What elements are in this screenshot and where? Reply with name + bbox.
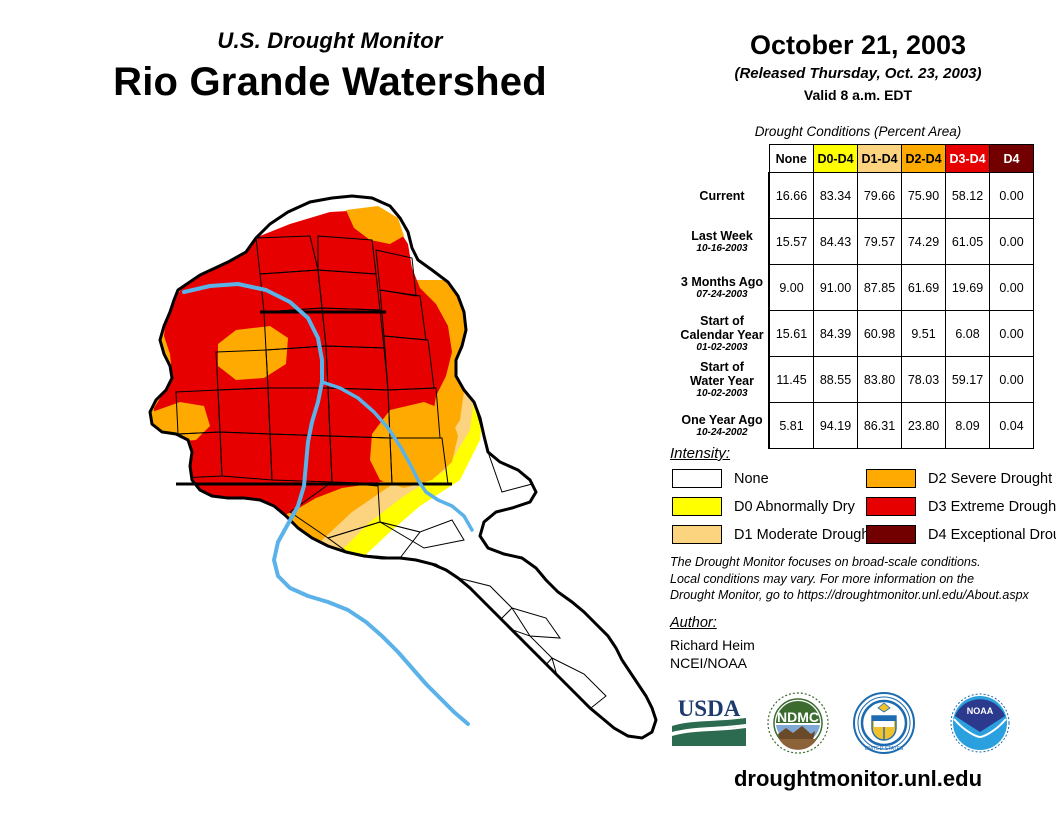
table-cell-d2d4-4: 78.03	[902, 357, 946, 403]
table-cell-d3d4-5: 8.09	[946, 403, 990, 449]
table-caption: Drought Conditions (Percent Area)	[660, 124, 1056, 139]
table-cell-d4-2: 0.00	[990, 265, 1034, 311]
svg-text:NOAA: NOAA	[967, 706, 994, 716]
legend-item-right-0: D2 Severe Drought	[866, 468, 1056, 489]
legend-column-left: NoneD0 Abnormally DryD1 Moderate Drought	[672, 468, 873, 552]
table-col-header-d0d4: D0-D4	[814, 145, 858, 173]
table-cell-d2d4-0: 75.90	[902, 173, 946, 219]
table-cell-d2d4-2: 61.69	[902, 265, 946, 311]
table-cell-d1d4-5: 86.31	[858, 403, 902, 449]
legend-label: D3 Extreme Drought	[928, 499, 1056, 515]
valid-date: October 21, 2003	[660, 30, 1056, 61]
table-cell-d0d4-2: 91.00	[814, 265, 858, 311]
legend-swatch	[866, 469, 916, 488]
disclaimer-line-1: The Drought Monitor focuses on broad-sca…	[670, 554, 1050, 571]
table-cell-d2d4-5: 23.80	[902, 403, 946, 449]
product-subtitle: U.S. Drought Monitor	[0, 28, 660, 54]
legend-item-left-1: D0 Abnormally Dry	[672, 496, 873, 517]
usdoc-logo: UNITED STATES	[852, 692, 916, 754]
table-col-header-d2d4: D2-D4	[902, 145, 946, 173]
table-cell-d3d4-1: 61.05	[946, 219, 990, 265]
disclaimer-line-3: Drought Monitor, go to https://droughtmo…	[670, 587, 1050, 604]
table-cell-none-5: 5.81	[769, 403, 814, 449]
table-corner-cell	[676, 145, 769, 173]
disclaimer: The Drought Monitor focuses on broad-sca…	[670, 554, 1050, 604]
table-row-header-5: One Year Ago10-24-2002	[676, 403, 769, 449]
legend-label: D2 Severe Drought	[928, 471, 1052, 487]
legend-swatch	[672, 469, 722, 488]
table-row: Start ofCalendar Year01-02-200315.6184.3…	[676, 311, 1034, 357]
table-row-header-3: Start ofCalendar Year01-02-2003	[676, 311, 769, 357]
ndmc-logo: NDMC	[766, 692, 830, 754]
table-cell-none-2: 9.00	[769, 265, 814, 311]
title-block: U.S. Drought Monitor Rio Grande Watershe…	[0, 28, 660, 105]
table-col-header-d1d4: D1-D4	[858, 145, 902, 173]
table-col-header-none: None	[769, 145, 814, 173]
table-cell-none-1: 15.57	[769, 219, 814, 265]
table-cell-d1d4-0: 79.66	[858, 173, 902, 219]
legend-column-right: D2 Severe DroughtD3 Extreme DroughtD4 Ex…	[866, 468, 1056, 552]
table-row: Start ofWater Year10-02-200311.4588.5583…	[676, 357, 1034, 403]
footer-url: droughtmonitor.unl.edu	[660, 766, 1056, 792]
legend-label: D1 Moderate Drought	[734, 527, 873, 543]
table-cell-d3d4-0: 58.12	[946, 173, 990, 219]
noaa-logo: NOAA	[948, 692, 1012, 754]
table-row-header-0: Current	[676, 173, 769, 219]
table-row: Current16.6683.3479.6675.9058.120.00	[676, 173, 1034, 219]
table-cell-d4-4: 0.00	[990, 357, 1034, 403]
table-cell-d0d4-1: 84.43	[814, 219, 858, 265]
legend-item-left-0: None	[672, 468, 873, 489]
author-label: Author:	[670, 615, 717, 631]
table-row: Last Week10-16-200315.5784.4379.5774.296…	[676, 219, 1034, 265]
table-cell-d4-5: 0.04	[990, 403, 1034, 449]
usda-logo: USDA	[670, 692, 748, 748]
table-cell-d2d4-1: 74.29	[902, 219, 946, 265]
intensity-label: Intensity:	[670, 445, 730, 462]
table-cell-d1d4-2: 87.85	[858, 265, 902, 311]
page-title: Rio Grande Watershed	[0, 60, 660, 105]
table-cell-d3d4-3: 6.08	[946, 311, 990, 357]
table-row-header-1: Last Week10-16-2003	[676, 219, 769, 265]
legend-swatch	[672, 525, 722, 544]
table-cell-d0d4-4: 88.55	[814, 357, 858, 403]
author-name: Richard Heim	[670, 637, 755, 653]
table-col-header-d4: D4	[990, 145, 1034, 173]
author-org: NCEI/NOAA	[670, 655, 747, 671]
drought-map	[60, 140, 660, 800]
drought-conditions-table: NoneD0-D4D1-D4D2-D4D3-D4D4 Current16.668…	[676, 144, 1034, 449]
legend-label: D4 Exceptional Drought	[928, 527, 1056, 543]
legend-swatch	[866, 525, 916, 544]
table-row: One Year Ago10-24-20025.8194.1986.3123.8…	[676, 403, 1034, 449]
legend-item-right-1: D3 Extreme Drought	[866, 496, 1056, 517]
table-col-header-d3d4: D3-D4	[946, 145, 990, 173]
table-cell-d3d4-2: 19.69	[946, 265, 990, 311]
table-cell-d0d4-5: 94.19	[814, 403, 858, 449]
svg-text:NDMC: NDMC	[777, 709, 819, 725]
table-cell-d3d4-4: 59.17	[946, 357, 990, 403]
table-header-row: NoneD0-D4D1-D4D2-D4D3-D4D4	[676, 145, 1034, 173]
legend-swatch	[672, 497, 722, 516]
table-cell-d0d4-3: 84.39	[814, 311, 858, 357]
table-cell-none-4: 11.45	[769, 357, 814, 403]
table-cell-d0d4-0: 83.34	[814, 173, 858, 219]
legend-item-right-2: D4 Exceptional Drought	[866, 524, 1056, 545]
release-date: (Released Thursday, Oct. 23, 2003)	[660, 65, 1056, 82]
table-cell-none-0: 16.66	[769, 173, 814, 219]
disclaimer-line-2: Local conditions may vary. For more info…	[670, 571, 1050, 588]
table-cell-d1d4-3: 60.98	[858, 311, 902, 357]
valid-time: Valid 8 a.m. EDT	[660, 87, 1056, 103]
legend-swatch	[866, 497, 916, 516]
table-cell-d4-0: 0.00	[990, 173, 1034, 219]
table-cell-d4-3: 0.00	[990, 311, 1034, 357]
legend-label: D0 Abnormally Dry	[734, 499, 855, 515]
logo-row: USDA NDMC UNITED STATES NOAA	[660, 692, 1056, 758]
legend-label: None	[734, 471, 769, 487]
svg-text:USDA: USDA	[678, 696, 741, 721]
table-row: 3 Months Ago07-24-20039.0091.0087.8561.6…	[676, 265, 1034, 311]
legend-item-left-2: D1 Moderate Drought	[672, 524, 873, 545]
table-cell-d2d4-3: 9.51	[902, 311, 946, 357]
table-cell-d1d4-4: 83.80	[858, 357, 902, 403]
table-cell-none-3: 15.61	[769, 311, 814, 357]
table-cell-d1d4-1: 79.57	[858, 219, 902, 265]
table-row-header-2: 3 Months Ago07-24-2003	[676, 265, 769, 311]
map-svg	[60, 140, 660, 800]
date-block: October 21, 2003 (Released Thursday, Oct…	[660, 30, 1056, 103]
svg-text:UNITED STATES: UNITED STATES	[865, 746, 904, 752]
table-cell-d4-1: 0.00	[990, 219, 1034, 265]
table-row-header-4: Start ofWater Year10-02-2003	[676, 357, 769, 403]
